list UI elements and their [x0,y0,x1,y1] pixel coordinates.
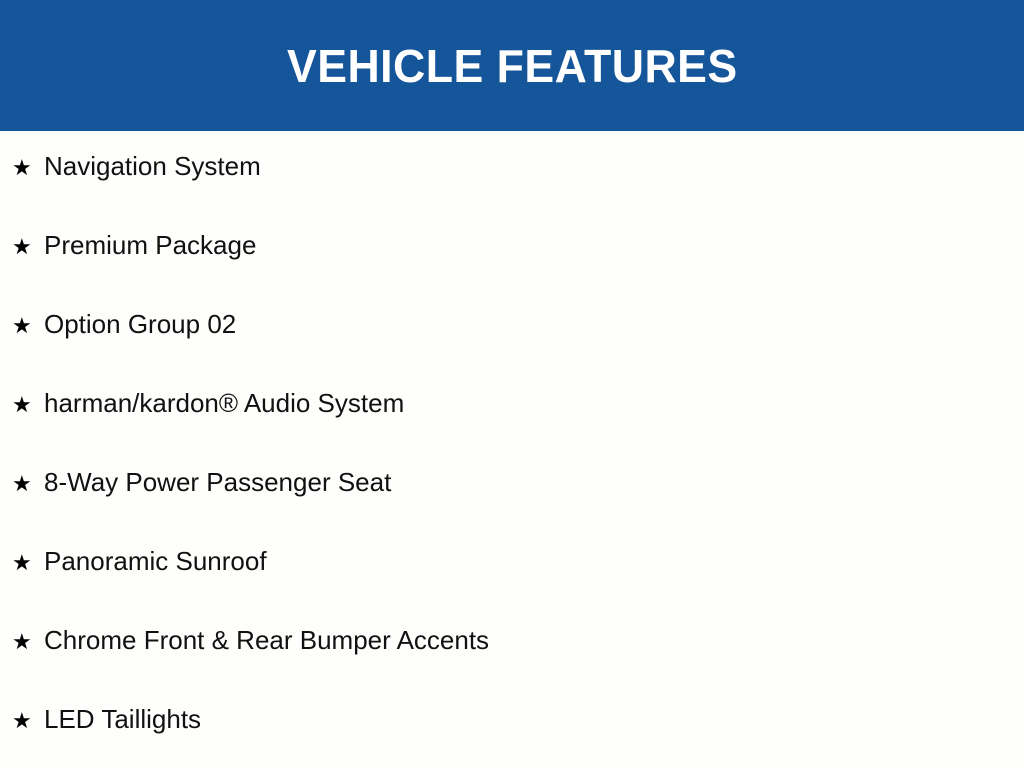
feature-label: Premium Package [44,232,1024,258]
header-banner: VEHICLE FEATURES [0,0,1024,131]
vehicle-features-page: VEHICLE FEATURES ★ Navigation System ★ P… [0,0,1024,768]
list-item: ★ Premium Package [0,232,1024,311]
star-bullet-icon: ★ [12,237,44,259]
feature-label: Option Group 02 [44,311,1024,337]
features-section: ★ Navigation System ★ Premium Package ★ … [0,131,1024,768]
list-item: ★ Panoramic Sunroof [0,548,1024,627]
list-item: ★ harman/kardon® Audio System [0,390,1024,469]
feature-label: 8-Way Power Passenger Seat [44,469,1024,495]
list-item: ★ LED Taillights [0,706,1024,768]
star-bullet-icon: ★ [12,395,44,417]
list-item: ★ Navigation System [0,153,1024,232]
list-item: ★ Chrome Front & Rear Bumper Accents [0,627,1024,706]
star-bullet-icon: ★ [12,316,44,338]
list-item: ★ Option Group 02 [0,311,1024,390]
feature-label: Navigation System [44,153,1024,179]
star-bullet-icon: ★ [12,474,44,496]
star-bullet-icon: ★ [12,632,44,654]
star-bullet-icon: ★ [12,553,44,575]
page-title: VEHICLE FEATURES [287,43,738,89]
feature-label: Chrome Front & Rear Bumper Accents [44,627,1024,653]
feature-label: Panoramic Sunroof [44,548,1024,574]
star-bullet-icon: ★ [12,158,44,180]
feature-label: LED Taillights [44,706,1024,732]
list-item: ★ 8-Way Power Passenger Seat [0,469,1024,548]
features-list: ★ Navigation System ★ Premium Package ★ … [0,153,1024,768]
star-bullet-icon: ★ [12,711,44,733]
feature-label: harman/kardon® Audio System [44,390,1024,416]
